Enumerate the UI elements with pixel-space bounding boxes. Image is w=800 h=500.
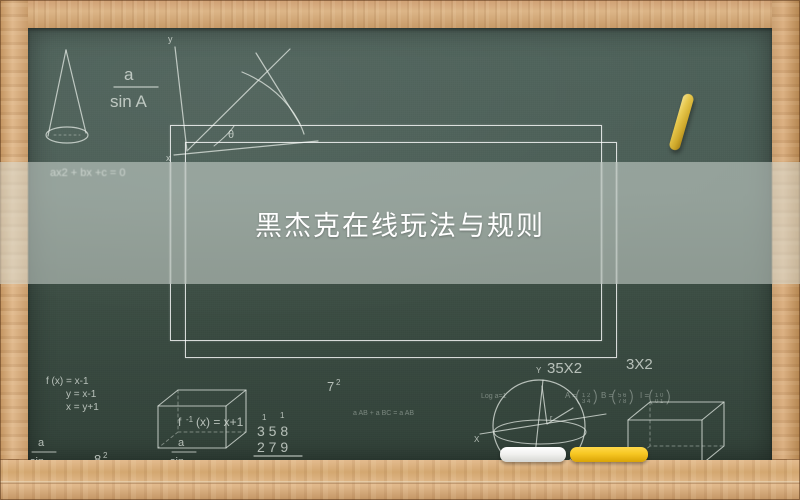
svg-text:B =: B = bbox=[601, 391, 614, 400]
svg-text:sin A: sin A bbox=[110, 92, 148, 111]
svg-text:2: 2 bbox=[103, 451, 108, 460]
svg-text:2 7 9: 2 7 9 bbox=[257, 439, 288, 455]
svg-text:8: 8 bbox=[94, 452, 101, 460]
svg-text:-1: -1 bbox=[186, 415, 194, 424]
svg-text:2: 2 bbox=[336, 378, 341, 387]
function-equations: f (x) = x-1 y = x-1 x = y+1 bbox=[46, 376, 99, 413]
eight-squared: 8 2 bbox=[94, 451, 108, 460]
chalkboard-banner: a sin A y x θ ax2 + bx +c = 0 f (x) = bbox=[0, 0, 800, 500]
svg-text:I =: I = bbox=[640, 391, 649, 400]
sine-rule-formula: a sin A bbox=[110, 65, 158, 111]
svg-text:y: y bbox=[168, 34, 173, 44]
svg-text:1: 1 bbox=[262, 413, 267, 422]
chalk-tray-lip bbox=[0, 481, 800, 484]
svg-text:Y: Y bbox=[536, 366, 542, 375]
label-3x2: 3X2 bbox=[626, 356, 653, 373]
svg-text:7 8: 7 8 bbox=[618, 399, 627, 405]
seven-squared: 7 2 bbox=[327, 378, 341, 394]
svg-text:3 5 8: 3 5 8 bbox=[257, 423, 288, 439]
circle-compass-diagram: Y X r bbox=[474, 366, 606, 460]
svg-text:f: f bbox=[178, 415, 182, 429]
matrix-notation: A = 1 2 3 4 B = 5 6 7 8 I = 1 0 0 1 bbox=[565, 390, 669, 405]
inverse-function-equation: f -1 (x) = x+1 bbox=[178, 415, 244, 429]
tray-chalk-yellow bbox=[570, 447, 648, 462]
svg-text:1: 1 bbox=[280, 411, 285, 420]
svg-text:f (x) = x-1: f (x) = x-1 bbox=[46, 376, 89, 387]
svg-text:a: a bbox=[38, 437, 45, 449]
tray-chalk-white bbox=[500, 447, 566, 462]
svg-text:6 3 7: 6 3 7 bbox=[257, 458, 288, 460]
svg-text:sin: sin bbox=[170, 456, 184, 460]
svg-text:y = x-1: y = x-1 bbox=[66, 389, 97, 400]
svg-text:3 4: 3 4 bbox=[582, 399, 591, 405]
cone-drawing bbox=[46, 50, 88, 143]
svg-text:(x) = x+1: (x) = x+1 bbox=[196, 415, 244, 429]
chalk-tray bbox=[0, 459, 800, 500]
log-label: Log a=1 bbox=[481, 393, 507, 400]
label-35x2: 35X2 bbox=[547, 360, 582, 377]
svg-text:a: a bbox=[124, 65, 134, 84]
sine-rule-small-1: a sin A bbox=[30, 437, 61, 460]
page-title: 黑杰克在线玩法与规则 bbox=[0, 162, 800, 284]
svg-text:7: 7 bbox=[327, 379, 334, 394]
svg-text:a: a bbox=[178, 437, 185, 449]
svg-text:X: X bbox=[474, 435, 480, 444]
svg-text:x = y+1: x = y+1 bbox=[66, 402, 99, 413]
faint-equation: a AB + a BC = a AB bbox=[353, 410, 414, 417]
column-addition: 1 1 3 5 8 2 7 9 6 3 7 bbox=[254, 411, 302, 460]
svg-text:sin: sin bbox=[30, 456, 44, 460]
wood-frame-top bbox=[0, 0, 800, 29]
